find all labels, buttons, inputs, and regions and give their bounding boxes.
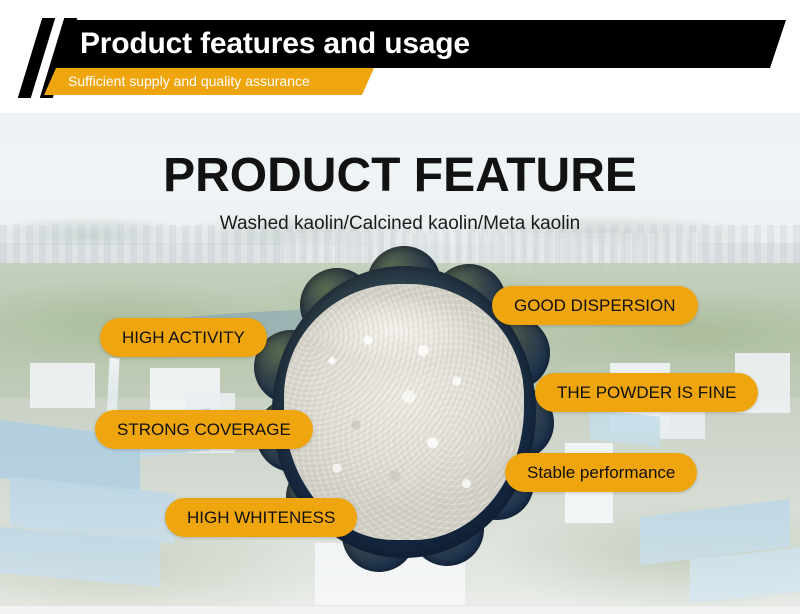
feature-badge-good-dispersion: GOOD DISPERSION [492,286,698,325]
hero-subtitle: Washed kaolin/Calcined kaolin/Meta kaoli… [0,211,800,237]
bottom-strip [0,605,800,614]
hero-title: PRODUCT FEATURE [0,148,800,204]
product-feature-banner: Product features and usage Sufficient su… [0,0,800,614]
feature-badge-high-whiteness: HIGH WHITENESS [165,498,357,537]
hero-section: PRODUCT FEATURE Washed kaolin/Calcined k… [0,113,800,605]
header-banner: Product features and usage Sufficient su… [0,0,800,112]
feature-badge-high-activity: HIGH ACTIVITY [100,318,267,357]
feature-badge-strong-coverage: STRONG COVERAGE [95,410,313,449]
feature-badge-the-powder-is-fine: THE POWDER IS FINE [535,373,758,412]
header-subtitle: Sufficient supply and quality assurance [68,71,310,92]
feature-badge-stable-performance: Stable performance [505,453,697,492]
header-title: Product features and usage [80,26,470,62]
